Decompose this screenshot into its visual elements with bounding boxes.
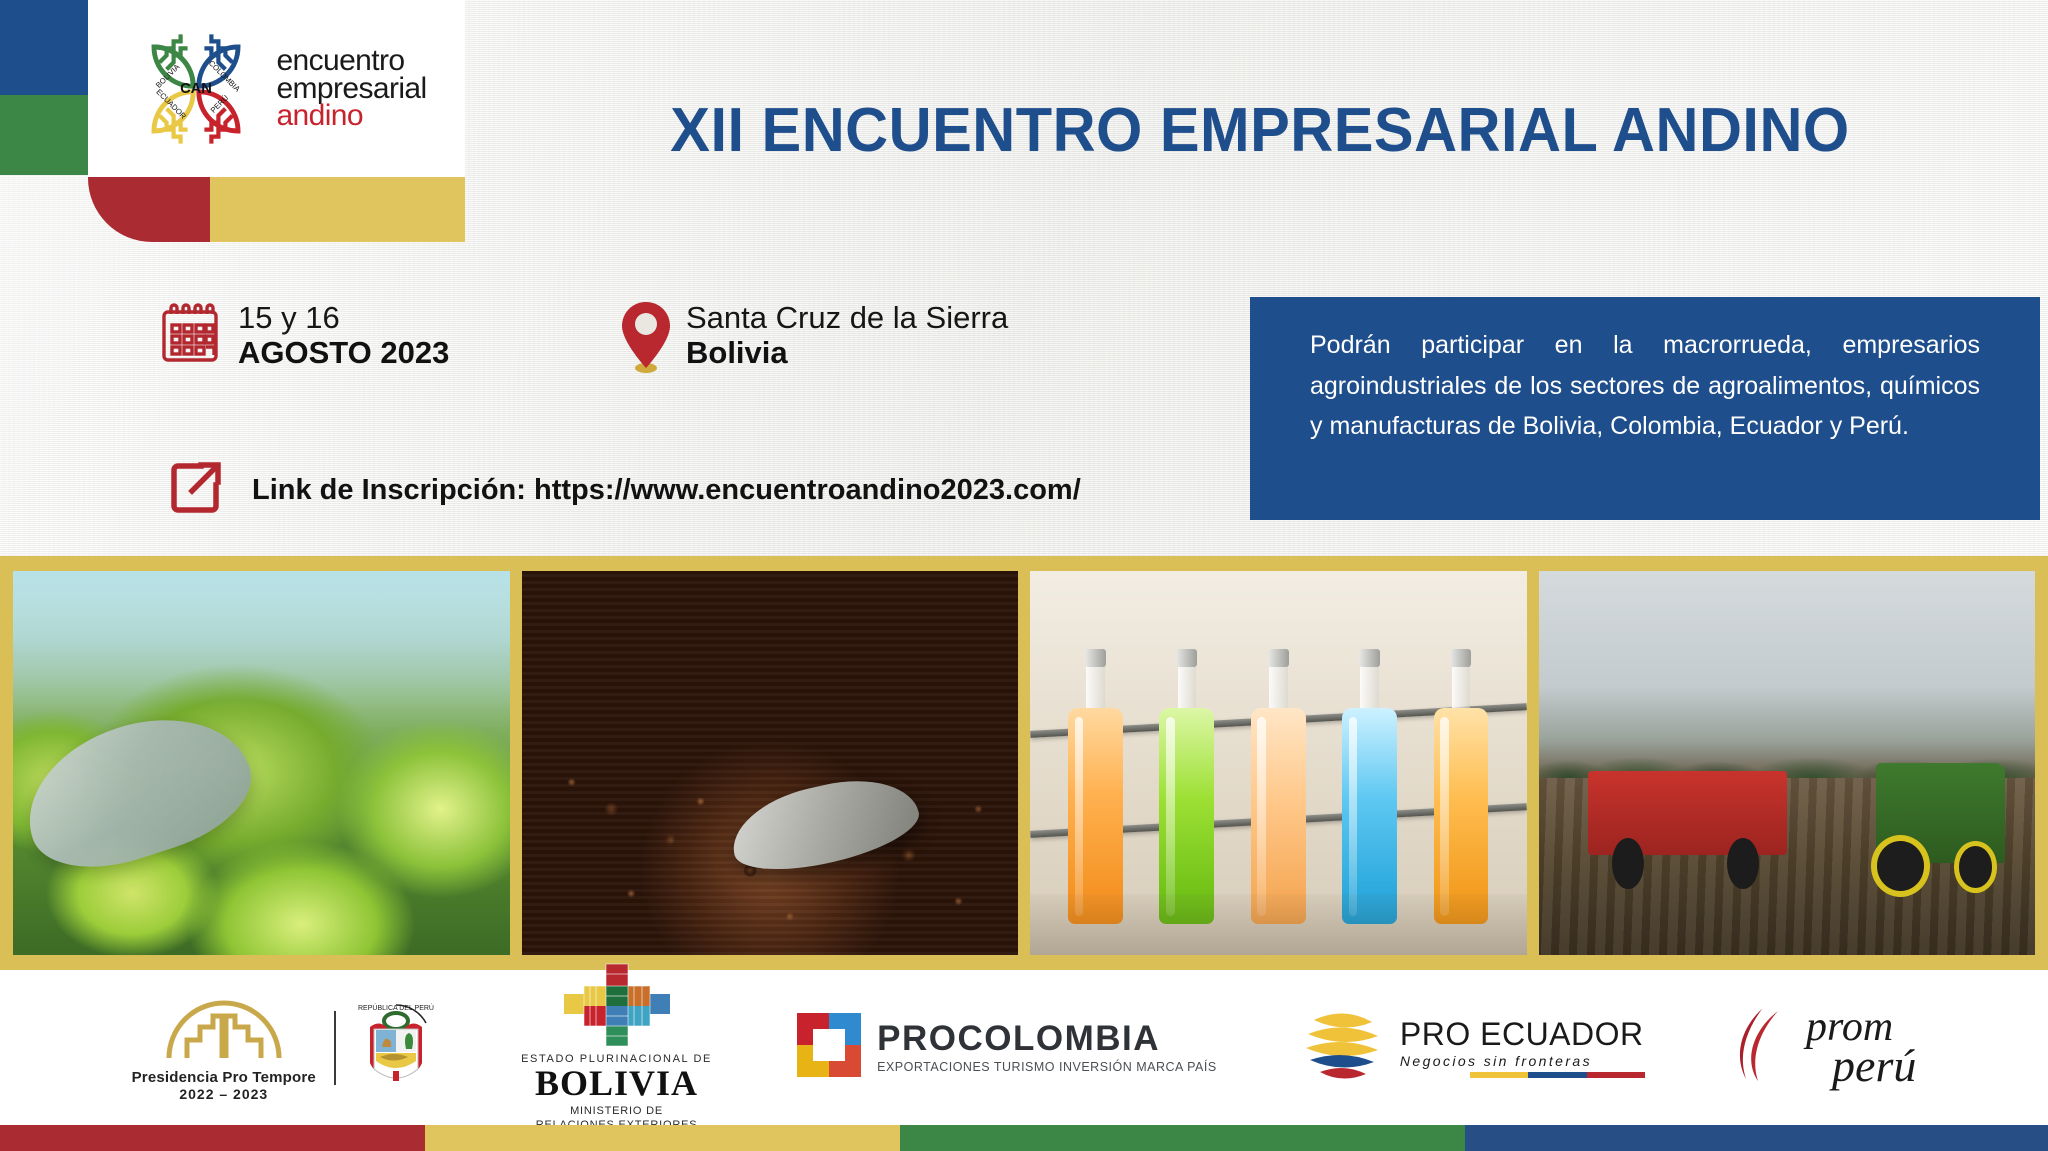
event-date-month: AGOSTO 2023 (238, 335, 449, 370)
svg-text:COLOMBIA: COLOMBIA (207, 58, 243, 94)
bar-blue (1465, 1125, 2048, 1151)
sponsor-promperu: prom perú (1728, 1005, 1916, 1090)
procolombia-square-icon (795, 1011, 863, 1084)
sponsor-procolombia-name: PROCOLOMBIA (877, 1021, 1160, 1056)
sponsor-bolivia-main: BOLIVIA (535, 1065, 698, 1101)
external-link-icon (170, 460, 224, 521)
decor-block-green (0, 95, 88, 175)
sponsor-bar: Presidencia Pro Tempore 2022 – 2023 REPÚ… (0, 970, 2048, 1125)
bottle-orange (1068, 654, 1123, 924)
andean-arch-icon (165, 994, 283, 1065)
can-andean-community-logo-icon: CAN BOLIVIA COLOMBIA ECUADOR PERÚ (126, 19, 266, 159)
event-date-days: 15 y 16 (238, 300, 449, 335)
photo-lettuce-harvest (13, 571, 510, 955)
event-country: Bolivia (686, 335, 1008, 370)
sponsor-label-presidencia: Presidencia Pro Tempore (132, 1069, 316, 1086)
logo-line-2: empresarial (276, 75, 426, 103)
sponsor-procolombia: PROCOLOMBIA EXPORTACIONES TURISMO INVERS… (795, 1011, 1217, 1084)
ecuador-flag-bar (1470, 1072, 1645, 1078)
sponsor-pro-ecuador-name: PRO ECUADOR (1400, 1018, 1644, 1050)
description-box: Podrán participar en la macrorrueda, emp… (1250, 297, 2040, 520)
registration-link[interactable]: Link de Inscripción: https://www.encuent… (170, 460, 1081, 521)
poster-canvas: CAN BOLIVIA COLOMBIA ECUADOR PERÚ encuen… (0, 0, 2048, 1151)
bottle-green (1159, 654, 1214, 924)
logo-line-3: andino (276, 102, 426, 130)
bottle-peach (1251, 654, 1306, 924)
decor-block-red (88, 177, 210, 242)
event-logo: CAN BOLIVIA COLOMBIA ECUADOR PERÚ encuen… (88, 0, 465, 177)
photo-strip (0, 556, 2048, 970)
bar-red (0, 1125, 425, 1151)
sponsor-ministerio-relaciones-exteriores-bolivia: ESTADO PLURINACIONAL DE BOLIVIA MINISTER… (521, 962, 712, 1133)
description-text: Podrán participar en la macrorrueda, emp… (1310, 325, 1980, 447)
page-title: XII ENCUENTRO EMPRESARIAL ANDINO (550, 95, 1971, 166)
bottle-amber (1434, 654, 1489, 924)
pro-ecuador-spiral-icon (1300, 1002, 1386, 1093)
event-date: 15 y 16 AGOSTO 2023 (160, 300, 449, 371)
registration-link-label[interactable]: Link de Inscripción: https://www.encuent… (252, 474, 1081, 507)
logo-line-1: encuentro (276, 47, 426, 75)
bolivia-wiphala-cross-icon (562, 962, 672, 1053)
photo-tractor-field (1539, 571, 2036, 955)
sponsor-pro-ecuador: PRO ECUADOR Negocios sin fronteras (1300, 1002, 1645, 1093)
promperu-swoosh-icon (1728, 1005, 1792, 1090)
sponsor-divider (334, 1011, 336, 1085)
sponsor-bolivia-sub1: MINISTERIO DE (536, 1105, 698, 1119)
event-logo-wordmark: encuentro empresarial andino (276, 47, 426, 130)
event-city: Santa Cruz de la Sierra (686, 300, 1008, 335)
svg-text:CAN: CAN (181, 81, 213, 97)
sponsor-procolombia-tagline: EXPORTACIONES TURISMO INVERSIÓN MARCA PA… (877, 1060, 1217, 1074)
sponsor-promperu-word2: perú (1832, 1046, 1916, 1086)
bar-green (900, 1125, 1465, 1151)
calendar-icon (160, 302, 220, 369)
event-location: Santa Cruz de la Sierra Bolivia (620, 300, 1008, 379)
photo-chocolate-pellets (522, 571, 1019, 955)
peru-coat-of-arms-icon: REPÚBLICA DEL PERÚ (354, 997, 438, 1098)
sponsor-years-presidencia: 2022 – 2023 (179, 1086, 268, 1102)
photo-colored-bottles (1030, 571, 1527, 955)
bottle-row (1030, 617, 1527, 924)
map-pin-icon (620, 300, 672, 379)
green-tractor (1876, 763, 2005, 863)
decor-block-blue (0, 0, 88, 95)
bottom-color-bar (0, 1125, 2048, 1151)
decor-block-gold (210, 177, 465, 242)
bottle-blue (1342, 654, 1397, 924)
red-seeder-cart (1588, 771, 1787, 855)
sponsor-pro-ecuador-tagline: Negocios sin fronteras (1400, 1053, 1592, 1069)
sponsor-presidencia-pro-tempore-peru: Presidencia Pro Tempore 2022 – 2023 REPÚ… (132, 994, 438, 1102)
bar-gold (425, 1125, 900, 1151)
svg-text:REPÚBLICA DEL PERÚ: REPÚBLICA DEL PERÚ (358, 1003, 434, 1012)
